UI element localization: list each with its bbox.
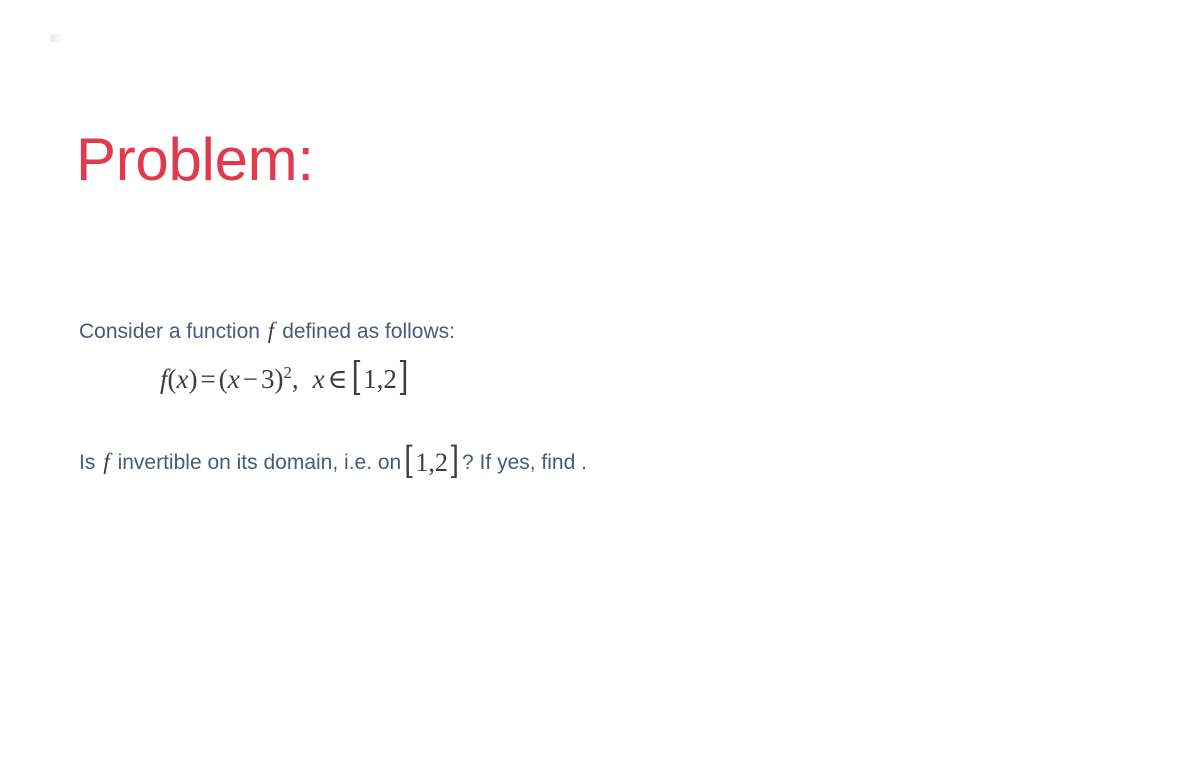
question-interval-lower: 1 xyxy=(415,448,428,477)
eq-member-of-sign: ∈ xyxy=(325,364,351,394)
eq-rhs-variable: x xyxy=(228,364,240,394)
slide-body: Consider a function f defined as follows… xyxy=(79,316,1119,479)
question-line: Is f invertible on its domain, i.e. on[1… xyxy=(79,446,1119,479)
equation-expression: f(x)=(x−3)2,x∈[1,2] xyxy=(160,364,409,394)
eq-lhs-open-paren: ( xyxy=(168,364,177,394)
function-symbol-f: f xyxy=(266,318,277,344)
eq-lhs-close-paren: ) xyxy=(189,364,198,394)
question-interval: [1,2] xyxy=(401,448,462,477)
intro-line: Consider a function f defined as follows… xyxy=(79,316,1119,347)
eq-exponent-two: 2 xyxy=(283,363,291,382)
intro-text-after: defined as follows: xyxy=(282,320,455,343)
question-text-before: Is xyxy=(79,451,95,474)
question-bracket-open: [ xyxy=(403,438,415,484)
eq-equals-sign: = xyxy=(198,364,219,394)
eq-minus-sign: − xyxy=(240,364,261,394)
eq-lhs-variable: x xyxy=(177,364,189,394)
intro-text-before: Consider a function xyxy=(79,320,260,343)
question-text-tail: ? If yes, find . xyxy=(462,451,587,474)
question-text-after: invertible on its domain, i.e. on xyxy=(118,451,402,474)
eq-bracket-open: [ xyxy=(351,350,364,408)
eq-bracket-close: ] xyxy=(397,350,410,408)
eq-rhs-open-paren: ( xyxy=(219,364,228,394)
eq-domain-upper: 2 xyxy=(383,364,397,394)
eq-lhs-f: f xyxy=(160,364,168,394)
function-definition-equation: f(x)=(x−3)2,x∈[1,2] xyxy=(160,359,1119,404)
eq-comma: , xyxy=(292,364,299,394)
question-bracket-close: ] xyxy=(448,438,460,484)
eq-domain-variable: x xyxy=(313,364,325,394)
scan-artifact xyxy=(50,34,64,42)
page-title: Problem: xyxy=(76,126,314,193)
question-function-symbol-f: f xyxy=(101,449,112,475)
slide-canvas: Problem: Consider a function f defined a… xyxy=(0,0,1200,778)
eq-constant-three: 3 xyxy=(261,364,275,394)
eq-domain-lower: 1 xyxy=(363,364,377,394)
question-interval-upper: 2 xyxy=(435,448,448,477)
